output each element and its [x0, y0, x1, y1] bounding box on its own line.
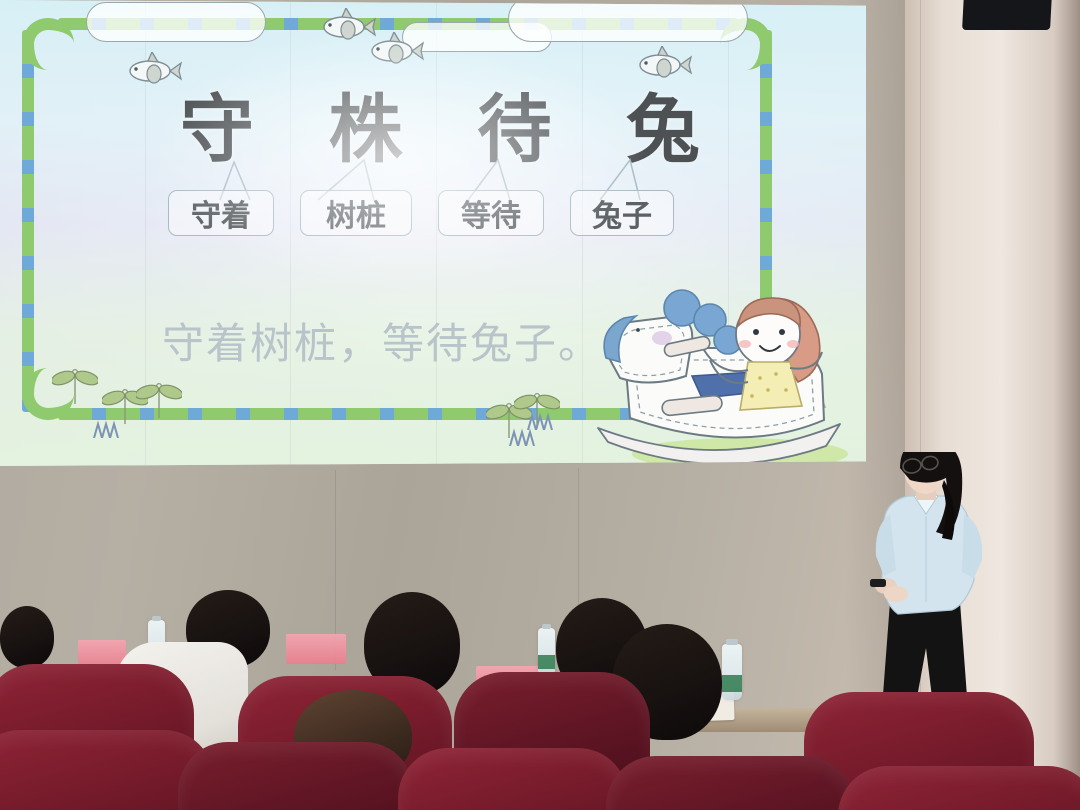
cloud-icon	[86, 2, 266, 42]
grass-mark-icon	[92, 420, 126, 438]
audience-member-head	[0, 606, 54, 668]
callout-group: 守着 树桩 等待 兔子	[168, 190, 708, 238]
callout-box-1[interactable]: 守着	[168, 190, 274, 236]
cloud-icon	[508, 0, 748, 42]
girl-on-rocking-horse-illustration	[590, 278, 860, 466]
slide-border-corner	[22, 18, 74, 70]
grass-mark-icon	[526, 412, 560, 430]
callout-label: 树桩	[326, 191, 386, 235]
name-card	[286, 634, 346, 664]
slide-content: 守 株 待 兔 守着 树桩 等待	[0, 0, 866, 466]
water-bottle	[722, 644, 742, 700]
sprout-icon	[52, 358, 98, 409]
water-bottle	[538, 628, 555, 676]
ceiling-speaker-unit	[962, 0, 1052, 30]
callout-label: 等待	[461, 191, 521, 235]
grass-mark-icon	[508, 428, 542, 446]
theater-seat	[398, 748, 628, 810]
sprout-icon	[136, 372, 182, 423]
callout-box-2[interactable]: 树桩	[300, 190, 412, 236]
slide-sentence: 守着树桩，等待兔子。	[162, 310, 602, 371]
callout-label: 兔子	[592, 191, 652, 235]
callout-box-3[interactable]: 等待	[438, 190, 544, 236]
theater-seat	[178, 742, 414, 810]
callout-label: 守着	[191, 191, 251, 235]
theater-seat	[838, 766, 1080, 810]
slide-border-left	[22, 30, 34, 412]
lecture-room-scene: 守 株 待 兔 守着 树桩 等待	[0, 0, 1080, 810]
theater-seat	[606, 756, 854, 810]
projection-screen: 守 株 待 兔 守着 树桩 等待	[0, 0, 866, 466]
fish-icon	[368, 32, 424, 66]
fish-icon	[126, 52, 182, 86]
audience-seating-area	[0, 580, 1080, 810]
callout-box-4[interactable]: 兔子	[570, 190, 674, 236]
